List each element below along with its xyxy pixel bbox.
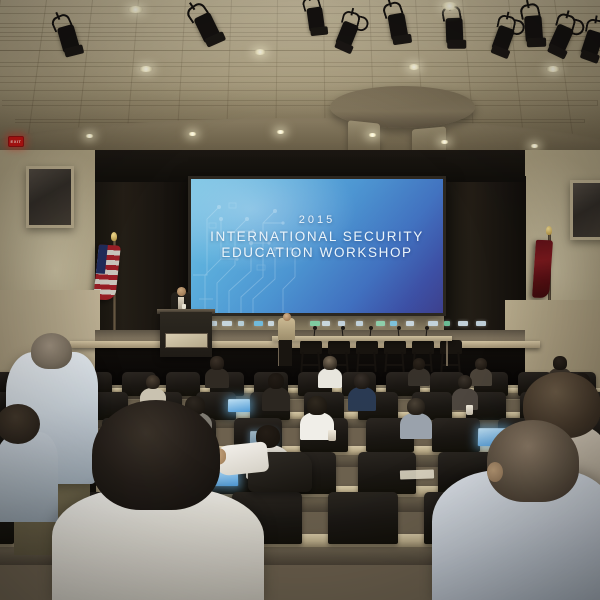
audience-laptop (228, 399, 250, 412)
audience-attendee-torso (348, 387, 376, 411)
audience-attendee-torso (262, 387, 290, 411)
foreground-attendee-right-head (487, 420, 579, 502)
foreground-attendee-right-ear (487, 462, 503, 482)
audience-attendee-head (458, 375, 473, 390)
desk-cup (328, 430, 336, 441)
audience-attendee-head (146, 375, 161, 390)
audience-attendee-head (210, 356, 223, 369)
audience-attendee-torso (205, 368, 229, 388)
audience-attendee-head (268, 373, 284, 389)
audience-attendee-torso (400, 413, 432, 439)
audience-chair (432, 418, 480, 452)
audience-attendee-torso (470, 368, 492, 386)
audience-chair (328, 492, 398, 544)
audience-attendee-torso (318, 368, 342, 388)
audience-attendee-torso (452, 388, 478, 410)
audience-attendee-head (307, 396, 326, 414)
foreground-attendee-left-torso (0, 432, 58, 522)
audience-attendee-head (323, 356, 336, 369)
foreground-attendee-center-head (92, 400, 220, 510)
audience-attendee-torso (408, 368, 430, 386)
audience-attendee-head (553, 356, 566, 369)
desk-cup (466, 405, 473, 415)
standing-attendee-head (31, 333, 72, 369)
auditorium-photo: EXIT (0, 0, 600, 600)
audience-attendee-head (475, 358, 487, 370)
audience-attendee-head (407, 398, 425, 415)
desk-notepad (400, 469, 434, 479)
audience-attendee-head (354, 373, 370, 389)
audience-attendee-head (413, 358, 425, 370)
